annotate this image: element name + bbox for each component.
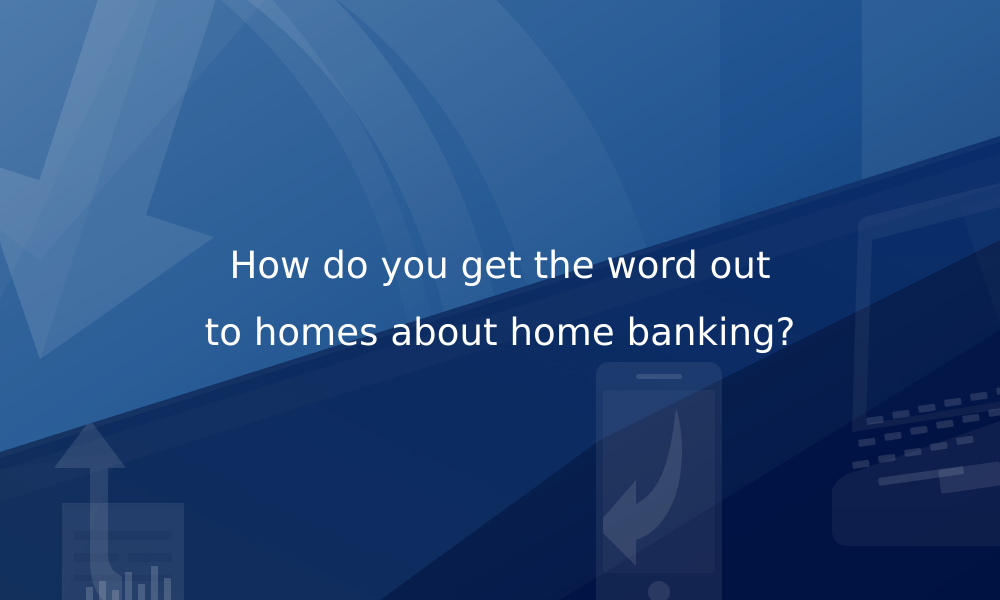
hero-banner: How do you get the word out to homes abo…	[0, 0, 1000, 600]
vignette	[0, 0, 1000, 600]
background-artwork	[0, 0, 1000, 600]
